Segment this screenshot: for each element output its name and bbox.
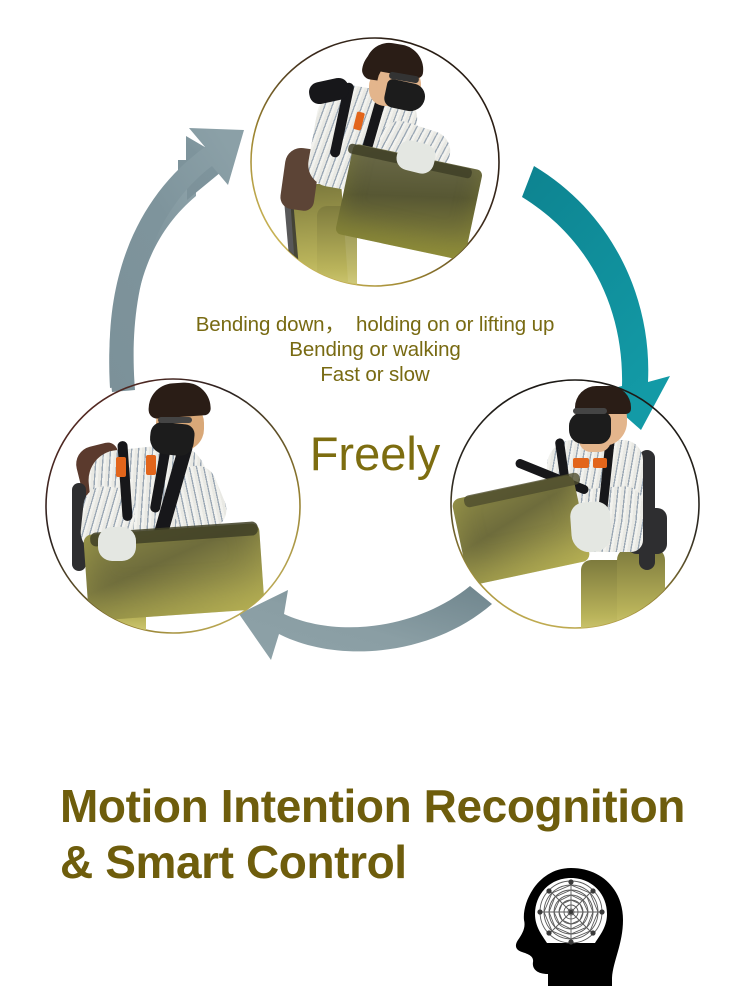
poster-root: Bending down， holding on or lifting up B… [0,0,750,1000]
bending-down-photo [46,379,300,633]
carrying-photo [451,380,699,628]
page-title-line-1: Motion Intention Recognition [60,778,720,834]
lifting-up-photo [251,38,499,286]
arrow-left-upward [109,128,244,392]
cycle-diagram: Bending down， holding on or lifting up B… [0,0,750,700]
head-lightbulb-icon [508,862,634,990]
freely-emphasis: Freely [0,428,750,480]
